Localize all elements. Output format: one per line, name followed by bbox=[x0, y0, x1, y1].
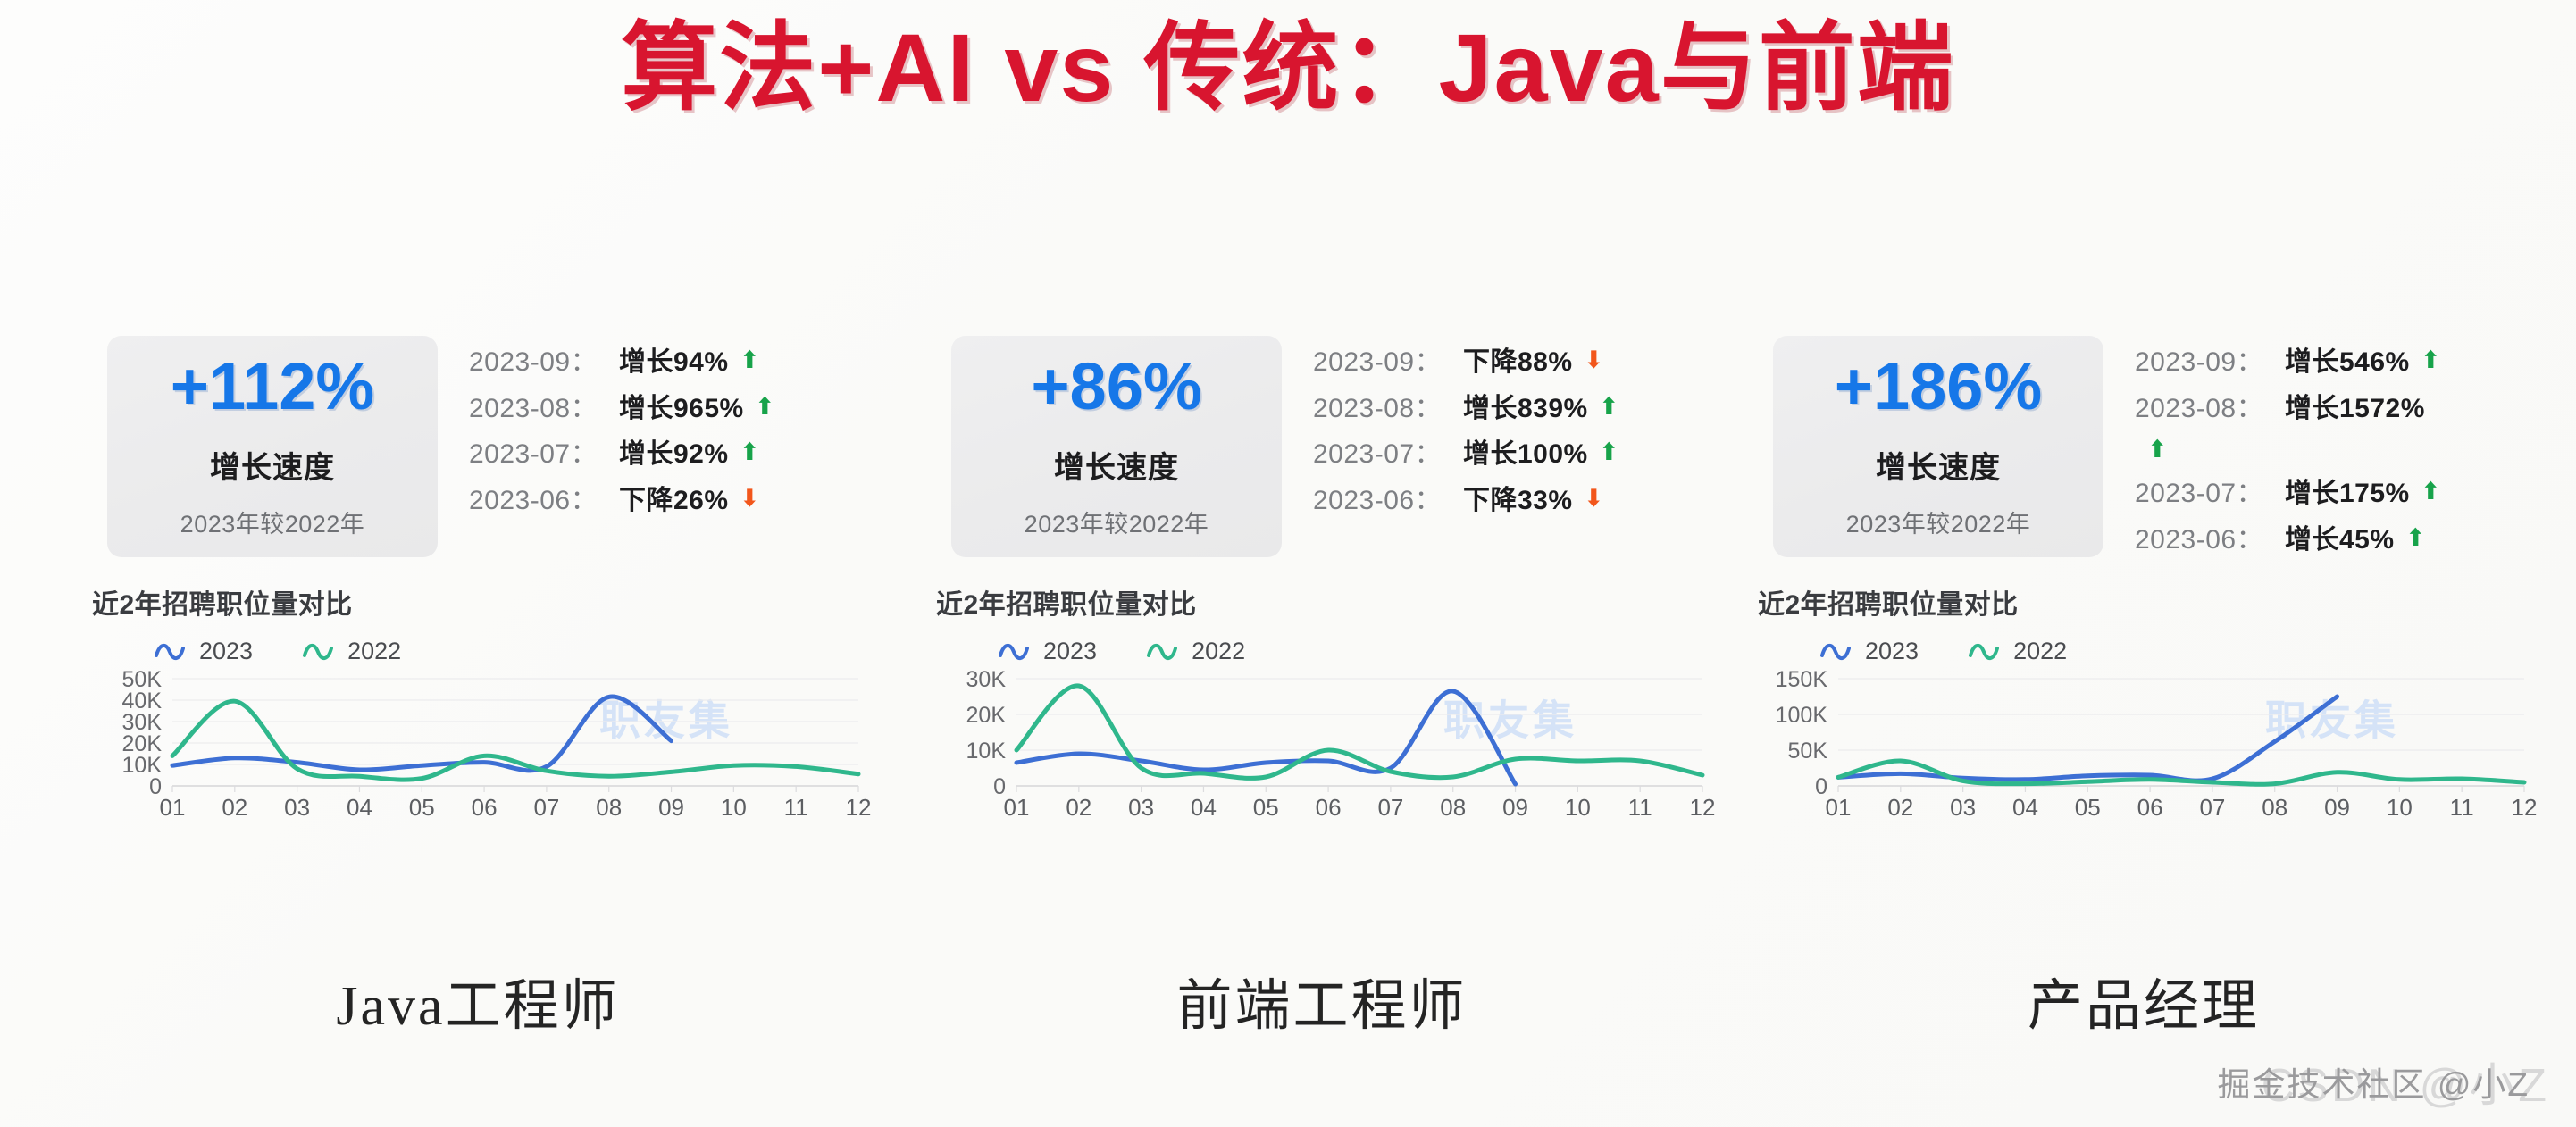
month-value: 下降33% bbox=[1463, 480, 1573, 523]
stat-block: +86%增长速度2023年较2022年2023-09：下降88%⬇2023-08… bbox=[920, 321, 1724, 563]
juejin-watermark: 掘金技术社区 @小Z bbox=[2218, 1057, 2530, 1106]
month-label: 2023-08： bbox=[469, 388, 619, 431]
chart-legend: 20232022 bbox=[155, 638, 401, 665]
month-value: 增长1572% bbox=[2285, 388, 2425, 431]
svg-text:10: 10 bbox=[721, 794, 747, 821]
svg-text:06: 06 bbox=[1316, 794, 1342, 821]
svg-text:04: 04 bbox=[347, 794, 372, 821]
columns-container: +112%增长速度2023年较2022年2023-09：增长94%⬆2023-0… bbox=[0, 321, 2576, 964]
svg-text:40K: 40K bbox=[122, 689, 163, 714]
monthly-growth-row: 2023-08：增长965%⬆ bbox=[469, 388, 889, 431]
svg-text:11: 11 bbox=[1628, 794, 1652, 821]
arrow-down-icon: ⬇ bbox=[740, 480, 760, 519]
month-label: 2023-09： bbox=[2135, 341, 2285, 385]
growth-period: 2023年较2022年 bbox=[1025, 505, 1209, 539]
stat-block: +186%增长速度2023年较2022年2023-09：增长546%⬆2023-… bbox=[1742, 321, 2546, 563]
svg-text:03: 03 bbox=[284, 794, 310, 821]
page-title: 算法+AI vs 传统：Java与前端 bbox=[0, 7, 2576, 128]
monthly-growth-row: 2023-09：增长94%⬆ bbox=[469, 341, 889, 385]
svg-text:09: 09 bbox=[1502, 794, 1528, 821]
month-value: 增长100% bbox=[1463, 433, 1588, 477]
svg-text:150K: 150K bbox=[1776, 667, 1828, 692]
growth-percent: +112% bbox=[171, 354, 374, 420]
growth-percent: +86% bbox=[1031, 354, 1201, 420]
svg-text:08: 08 bbox=[2262, 794, 2287, 821]
svg-text:12: 12 bbox=[2512, 794, 2538, 821]
svg-text:01: 01 bbox=[160, 794, 186, 821]
growth-period: 2023年较2022年 bbox=[180, 505, 365, 539]
svg-text:30K: 30K bbox=[122, 710, 163, 735]
job-title: Java工程师 bbox=[76, 960, 880, 1040]
monthly-growth-row: 2023-07：增长100%⬆ bbox=[1313, 433, 1733, 477]
svg-text:07: 07 bbox=[1377, 794, 1403, 821]
chart-legend: 20232022 bbox=[1820, 638, 2067, 665]
monthly-growth-row: 2023-06：增长45%⬆ bbox=[2135, 519, 2555, 563]
month-value: 增长546% bbox=[2285, 341, 2410, 385]
svg-text:04: 04 bbox=[1191, 794, 1217, 821]
legend-item-2022[interactable]: 2022 bbox=[1969, 638, 2067, 665]
month-label: 2023-07： bbox=[469, 433, 619, 477]
month-label: 2023-07： bbox=[1313, 433, 1463, 477]
growth-stat-card: +112%增长速度2023年较2022年 bbox=[107, 336, 438, 557]
growth-stat-card: +86%增长速度2023年较2022年 bbox=[951, 336, 1282, 557]
svg-text:01: 01 bbox=[1004, 794, 1030, 821]
month-value: 增长839% bbox=[1463, 388, 1588, 431]
job-title: 前端工程师 bbox=[920, 960, 1724, 1040]
chart-heading: 近2年招聘职位量对比 bbox=[92, 582, 880, 622]
legend-label: 2022 bbox=[1192, 638, 1245, 665]
job-column-0: +112%增长速度2023年较2022年2023-09：增长94%⬆2023-0… bbox=[76, 321, 880, 964]
chart-legend: 20232022 bbox=[999, 638, 1245, 665]
month-value: 增长965% bbox=[619, 388, 744, 431]
svg-text:05: 05 bbox=[409, 794, 435, 821]
svg-text:07: 07 bbox=[2199, 794, 2225, 821]
arrow-up-icon: ⬆ bbox=[2421, 341, 2441, 380]
svg-text:20K: 20K bbox=[122, 731, 163, 756]
month-value: 增长94% bbox=[619, 341, 729, 385]
legend-wave-icon bbox=[1820, 642, 1851, 662]
chart-block: 近2年招聘职位量对比20232022职友集050K100K150K0102030… bbox=[1742, 582, 2546, 825]
svg-text:09: 09 bbox=[658, 794, 684, 821]
arrow-up-icon: ⬆ bbox=[740, 433, 760, 472]
monthly-growth-list: 2023-09：增长546%⬆2023-08：增长1572%⬆2023-07：增… bbox=[2135, 341, 2555, 564]
growth-stat-card: +186%增长速度2023年较2022年 bbox=[1773, 336, 2103, 557]
month-label: 2023-08： bbox=[1313, 388, 1463, 431]
month-label: 2023-09： bbox=[469, 341, 619, 385]
growth-label: 增长速度 bbox=[1876, 443, 2001, 487]
svg-text:10K: 10K bbox=[122, 753, 163, 778]
slide-root: 算法+AI vs 传统：Java与前端 +112%增长速度2023年较2022年… bbox=[0, 0, 2576, 1127]
svg-text:08: 08 bbox=[1440, 794, 1466, 821]
month-value: 下降26% bbox=[619, 480, 729, 523]
chart-heading: 近2年招聘职位量对比 bbox=[936, 582, 1724, 622]
chart-canvas: 20232022职友集050K100K150K01020304050607080… bbox=[1742, 638, 2546, 825]
svg-text:11: 11 bbox=[784, 794, 808, 821]
monthly-growth-row: 2023-07：增长175%⬆ bbox=[2135, 472, 2555, 516]
svg-text:50K: 50K bbox=[122, 667, 163, 692]
line-series-2023 bbox=[1016, 691, 1516, 784]
month-label: 2023-07： bbox=[2135, 472, 2285, 516]
svg-text:09: 09 bbox=[2324, 794, 2350, 821]
svg-text:05: 05 bbox=[2075, 794, 2101, 821]
svg-text:02: 02 bbox=[1887, 794, 1913, 821]
monthly-growth-row: 2023-08：增长839%⬆ bbox=[1313, 388, 1733, 431]
chart-canvas: 20232022职友集010K20K30K0102030405060708091… bbox=[920, 638, 1724, 825]
month-label: 2023-06： bbox=[1313, 480, 1463, 523]
svg-text:07: 07 bbox=[533, 794, 559, 821]
legend-label: 2023 bbox=[1043, 638, 1097, 665]
svg-text:02: 02 bbox=[1066, 794, 1091, 821]
growth-label: 增长速度 bbox=[210, 443, 335, 487]
legend-item-2023[interactable]: 2023 bbox=[1820, 638, 1919, 665]
chart-heading: 近2年招聘职位量对比 bbox=[1758, 582, 2546, 622]
monthly-growth-row: 2023-07：增长92%⬆ bbox=[469, 433, 889, 477]
job-column-1: +86%增长速度2023年较2022年2023-09：下降88%⬇2023-08… bbox=[920, 321, 1724, 964]
svg-text:10K: 10K bbox=[966, 739, 1007, 764]
arrow-up-icon: ⬆ bbox=[755, 388, 775, 427]
legend-wave-icon bbox=[1969, 642, 1999, 662]
legend-item-2022[interactable]: 2022 bbox=[303, 638, 401, 665]
line-series-2022 bbox=[1016, 686, 1702, 779]
arrow-down-icon: ⬇ bbox=[1584, 480, 1604, 519]
legend-item-2023[interactable]: 2023 bbox=[999, 638, 1097, 665]
monthly-growth-row: 2023-09：下降88%⬇ bbox=[1313, 341, 1733, 385]
job-title-row: Java工程师前端工程师产品经理 bbox=[0, 960, 2576, 1058]
legend-wave-icon bbox=[999, 642, 1029, 662]
month-value: 增长45% bbox=[2285, 519, 2395, 563]
svg-text:03: 03 bbox=[1128, 794, 1154, 821]
arrow-up-icon: ⬆ bbox=[2421, 472, 2441, 512]
stat-block: +112%增长速度2023年较2022年2023-09：增长94%⬆2023-0… bbox=[76, 321, 880, 563]
svg-text:06: 06 bbox=[472, 794, 498, 821]
legend-label: 2023 bbox=[199, 638, 253, 665]
monthly-growth-list: 2023-09：下降88%⬇2023-08：增长839%⬆2023-07：增长1… bbox=[1313, 341, 1733, 525]
legend-label: 2022 bbox=[2013, 638, 2067, 665]
monthly-growth-row: 2023-06：下降26%⬇ bbox=[469, 480, 889, 523]
svg-text:12: 12 bbox=[846, 794, 872, 821]
svg-text:03: 03 bbox=[1950, 794, 1976, 821]
line-series-2023 bbox=[1838, 697, 2338, 781]
job-column-2: +186%增长速度2023年较2022年2023-09：增长546%⬆2023-… bbox=[1742, 321, 2546, 964]
svg-text:11: 11 bbox=[2450, 794, 2474, 821]
svg-text:30K: 30K bbox=[966, 667, 1007, 692]
month-value: 增长175% bbox=[2285, 472, 2410, 516]
month-value: 增长92% bbox=[619, 433, 729, 477]
arrow-up-icon: ⬆ bbox=[2405, 519, 2426, 558]
arrow-up-icon: ⬆ bbox=[2147, 430, 2555, 470]
chart-block: 近2年招聘职位量对比20232022职友集010K20K30K010203040… bbox=[920, 582, 1724, 825]
legend-wave-icon bbox=[155, 642, 185, 662]
chart-block: 近2年招聘职位量对比20232022职友集010K20K30K40K50K010… bbox=[76, 582, 880, 825]
svg-text:10: 10 bbox=[2387, 794, 2413, 821]
svg-text:08: 08 bbox=[596, 794, 622, 821]
svg-text:04: 04 bbox=[2012, 794, 2038, 821]
svg-text:12: 12 bbox=[1690, 794, 1716, 821]
month-label: 2023-06： bbox=[2135, 519, 2285, 563]
legend-item-2022[interactable]: 2022 bbox=[1147, 638, 1245, 665]
svg-text:01: 01 bbox=[1826, 794, 1852, 821]
legend-label: 2022 bbox=[347, 638, 401, 665]
legend-wave-icon bbox=[1147, 642, 1177, 662]
month-label: 2023-08： bbox=[2135, 388, 2285, 431]
chart-watermark: 职友集 bbox=[1443, 697, 1577, 743]
monthly-growth-row: 2023-08：增长1572%⬆ bbox=[2135, 388, 2555, 470]
svg-text:10: 10 bbox=[1565, 794, 1591, 821]
month-value: 下降88% bbox=[1463, 341, 1573, 385]
monthly-growth-row: 2023-06：下降33%⬇ bbox=[1313, 480, 1733, 523]
growth-period: 2023年较2022年 bbox=[1846, 505, 2031, 539]
svg-text:05: 05 bbox=[1253, 794, 1279, 821]
svg-text:20K: 20K bbox=[966, 703, 1007, 728]
legend-item-2023[interactable]: 2023 bbox=[155, 638, 253, 665]
month-label: 2023-09： bbox=[1313, 341, 1463, 385]
legend-label: 2023 bbox=[1865, 638, 1919, 665]
month-label: 2023-06： bbox=[469, 480, 619, 523]
arrow-up-icon: ⬆ bbox=[1599, 433, 1619, 472]
growth-percent: +186% bbox=[1835, 354, 2042, 420]
svg-text:02: 02 bbox=[222, 794, 247, 821]
monthly-growth-list: 2023-09：增长94%⬆2023-08：增长965%⬆2023-07：增长9… bbox=[469, 341, 889, 525]
arrow-up-icon: ⬆ bbox=[740, 341, 760, 380]
monthly-growth-row: 2023-09：增长546%⬆ bbox=[2135, 341, 2555, 385]
svg-text:100K: 100K bbox=[1776, 703, 1828, 728]
svg-text:06: 06 bbox=[2137, 794, 2163, 821]
arrow-down-icon: ⬇ bbox=[1584, 341, 1604, 380]
chart-canvas: 20232022职友集010K20K30K40K50K0102030405060… bbox=[76, 638, 880, 825]
job-title: 产品经理 bbox=[1742, 960, 2546, 1040]
growth-label: 增长速度 bbox=[1054, 443, 1179, 487]
line-series-2022 bbox=[1838, 761, 2524, 784]
legend-wave-icon bbox=[303, 642, 333, 662]
arrow-up-icon: ⬆ bbox=[1599, 388, 1619, 427]
svg-text:50K: 50K bbox=[1788, 739, 1828, 764]
